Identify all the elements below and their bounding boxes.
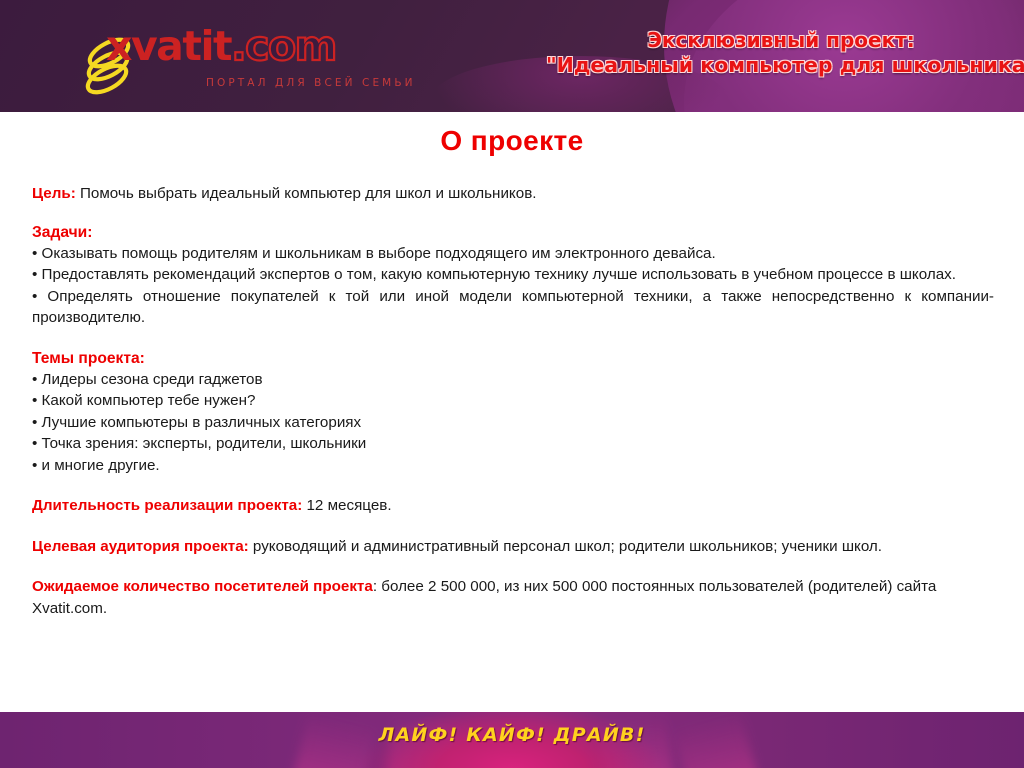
spacer bbox=[32, 557, 994, 576]
footer-slogan: ЛАЙФ! КАЙФ! ДРАЙВ! bbox=[0, 724, 1024, 746]
site-logo[interactable]: xvatit.com портал для всей семьи bbox=[78, 22, 408, 100]
topics-item: • Какой компьютер тебе нужен? bbox=[32, 390, 994, 412]
slide-footer: ЛАЙФ! КАЙФ! ДРАЙВ! bbox=[0, 712, 1024, 768]
exclusive-project-banner: Эксклюзивный проект: "Идеальный компьюте… bbox=[546, 28, 1016, 78]
tasks-item: • Предоставлять рекомендаций экспертов о… bbox=[32, 264, 994, 286]
logo-word-com: .com bbox=[231, 22, 336, 70]
logo-wordmark: xvatit.com bbox=[106, 24, 336, 68]
topics-section: Темы проекта: • Лидеры сезона среди гадж… bbox=[32, 348, 994, 477]
banner-line-1: Эксклюзивный проект: bbox=[546, 28, 1016, 53]
topics-heading: Темы проекта: bbox=[32, 348, 994, 369]
tasks-item: • Оказывать помощь родителям и школьника… bbox=[32, 243, 994, 265]
duration-label: Длительность реализации проекта: bbox=[32, 497, 302, 514]
duration-paragraph: Длительность реализации проекта: 12 меся… bbox=[32, 495, 994, 517]
logo-tagline: портал для всей семьи bbox=[206, 77, 416, 89]
logo-word-vatit: vatit bbox=[131, 22, 231, 70]
goal-paragraph: Цель: Помочь выбрать идеальный компьютер… bbox=[32, 183, 994, 205]
banner-line-2: "Идеальный компьютер для школьника" bbox=[546, 53, 1016, 78]
logo-word-x: x bbox=[106, 22, 131, 70]
spacer bbox=[32, 329, 994, 348]
slide-content: О проекте Цель: Помочь выбрать идеальный… bbox=[0, 112, 1024, 712]
tasks-item: • Определять отношение покупателей к той… bbox=[32, 286, 994, 329]
topics-item: • Точка зрения: эксперты, родители, школ… bbox=[32, 433, 994, 455]
spacer bbox=[32, 517, 994, 536]
slide-header: xvatit.com портал для всей семьи Эксклюз… bbox=[0, 0, 1024, 112]
duration-text: 12 месяцев. bbox=[302, 497, 391, 514]
tasks-section: Задачи: • Оказывать помощь родителям и ш… bbox=[32, 222, 994, 329]
visitors-paragraph: Ожидаемое количество посетителей проекта… bbox=[32, 576, 994, 619]
audience-paragraph: Целевая аудитория проекта: руководящий и… bbox=[32, 536, 994, 558]
spacer bbox=[32, 476, 994, 495]
tasks-heading: Задачи: bbox=[32, 222, 994, 243]
slide-body: Цель: Помочь выбрать идеальный компьютер… bbox=[0, 183, 1024, 619]
visitors-label: Ожидаемое количество посетителей проекта bbox=[32, 578, 373, 595]
page-title: О проекте bbox=[0, 125, 1024, 157]
spacer bbox=[32, 205, 994, 222]
topics-item: • и многие другие. bbox=[32, 455, 994, 477]
topics-item: • Лучшие компьютеры в различных категори… bbox=[32, 412, 994, 434]
audience-label: Целевая аудитория проекта: bbox=[32, 538, 249, 555]
goal-text: Помочь выбрать идеальный компьютер для ш… bbox=[76, 185, 537, 202]
goal-label: Цель: bbox=[32, 185, 76, 202]
audience-text: руководящий и административный персонал … bbox=[249, 538, 882, 555]
topics-item: • Лидеры сезона среди гаджетов bbox=[32, 369, 994, 391]
